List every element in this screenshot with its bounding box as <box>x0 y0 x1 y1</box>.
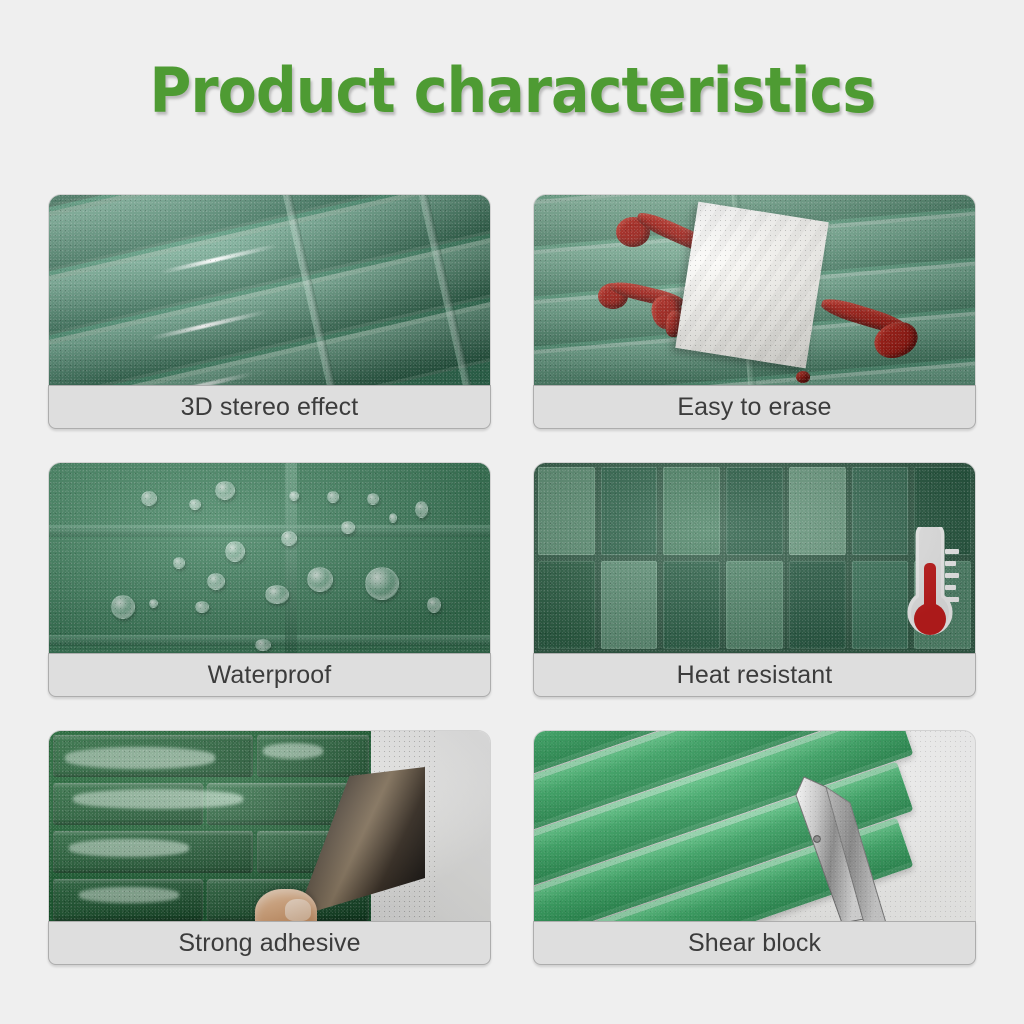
water-droplet-icon <box>415 501 428 518</box>
caption-bar-heat-resistant: Heat resistant <box>533 653 976 697</box>
water-droplet-icon <box>195 601 209 613</box>
gloss-highlight <box>73 789 243 809</box>
water-droplet-icon <box>225 541 245 562</box>
feature-image-shear-block <box>533 730 976 922</box>
infographic-page: Product characteristics 3D stereo effect <box>0 0 1024 1024</box>
feature-image-strong-adhesive <box>48 730 491 922</box>
tile-brick <box>663 561 720 649</box>
thermometer-icon <box>893 527 959 649</box>
caption-label: Shear block <box>688 929 821 958</box>
gloss-highlight <box>79 887 179 903</box>
caption-label: Waterproof <box>208 661 332 690</box>
tile-brick <box>789 467 846 555</box>
caption-bar-strong-adhesive: Strong adhesive <box>48 921 491 965</box>
water-droplet-icon <box>389 513 397 523</box>
caption-label: Strong adhesive <box>178 929 360 958</box>
caption-bar-3d-stereo-effect: 3D stereo effect <box>48 385 491 429</box>
tile-brick <box>726 561 783 649</box>
caption-label: 3D stereo effect <box>181 393 359 422</box>
feature-card-heat-resistant[interactable]: Heat resistant <box>533 462 976 698</box>
water-droplet-icon <box>215 481 235 500</box>
water-droplet-icon <box>149 599 158 608</box>
caption-label: Easy to erase <box>677 393 831 422</box>
tile-brick <box>538 467 595 555</box>
water-droplet-icon <box>327 491 339 503</box>
gloss-highlight <box>65 747 215 769</box>
water-droplet-icon <box>141 491 157 506</box>
water-droplet-icon <box>427 597 441 613</box>
gloss-highlight <box>263 743 323 759</box>
water-droplet-icon <box>173 557 185 569</box>
feature-card-waterproof[interactable]: Waterproof <box>48 462 491 698</box>
page-header: Product characteristics <box>0 0 1024 180</box>
water-droplet-icon <box>265 585 289 604</box>
grout-line <box>49 525 490 537</box>
feature-card-shear-block[interactable]: Shear block <box>533 730 976 966</box>
water-droplet-icon <box>365 567 399 600</box>
feature-card-3d-stereo-effect[interactable]: 3D stereo effect <box>48 194 491 430</box>
water-droplet-icon <box>281 531 297 546</box>
scissors-icon <box>534 731 976 922</box>
feature-image-heat-resistant <box>533 462 976 654</box>
tile-brick <box>789 561 846 649</box>
water-droplet-icon <box>341 521 355 534</box>
tile-brick <box>601 467 658 555</box>
caption-bar-waterproof: Waterproof <box>48 653 491 697</box>
tile-brick <box>726 467 783 555</box>
feature-image-3d-stereo-effect <box>48 194 491 386</box>
water-droplet-icon <box>189 499 201 510</box>
vignette-overlay <box>49 463 490 653</box>
caption-bar-shear-block: Shear block <box>533 921 976 965</box>
water-droplet-icon <box>367 493 379 505</box>
caption-bar-easy-to-erase: Easy to erase <box>533 385 976 429</box>
tile-brick <box>663 467 720 555</box>
water-droplet-icon <box>307 567 333 592</box>
feature-image-easy-to-erase <box>533 194 976 386</box>
water-droplet-icon <box>255 639 271 651</box>
water-droplet-icon <box>289 491 299 501</box>
tissue-wipe <box>675 202 829 369</box>
feature-card-strong-adhesive[interactable]: Strong adhesive <box>48 730 491 966</box>
red-stain-mark <box>796 371 810 383</box>
caption-label: Heat resistant <box>677 661 833 690</box>
water-droplet-icon <box>207 573 225 590</box>
texture-overlay <box>48 462 491 654</box>
fingernail <box>285 899 311 921</box>
feature-card-easy-to-erase[interactable]: Easy to erase <box>533 194 976 430</box>
page-title: Product characteristics <box>149 54 875 127</box>
tile-brick <box>538 561 595 649</box>
feature-image-waterproof <box>48 462 491 654</box>
tile-brick <box>601 561 658 649</box>
gloss-highlight <box>69 839 189 857</box>
feature-grid: 3D stereo effect <box>48 194 976 966</box>
water-droplet-icon <box>111 595 135 619</box>
